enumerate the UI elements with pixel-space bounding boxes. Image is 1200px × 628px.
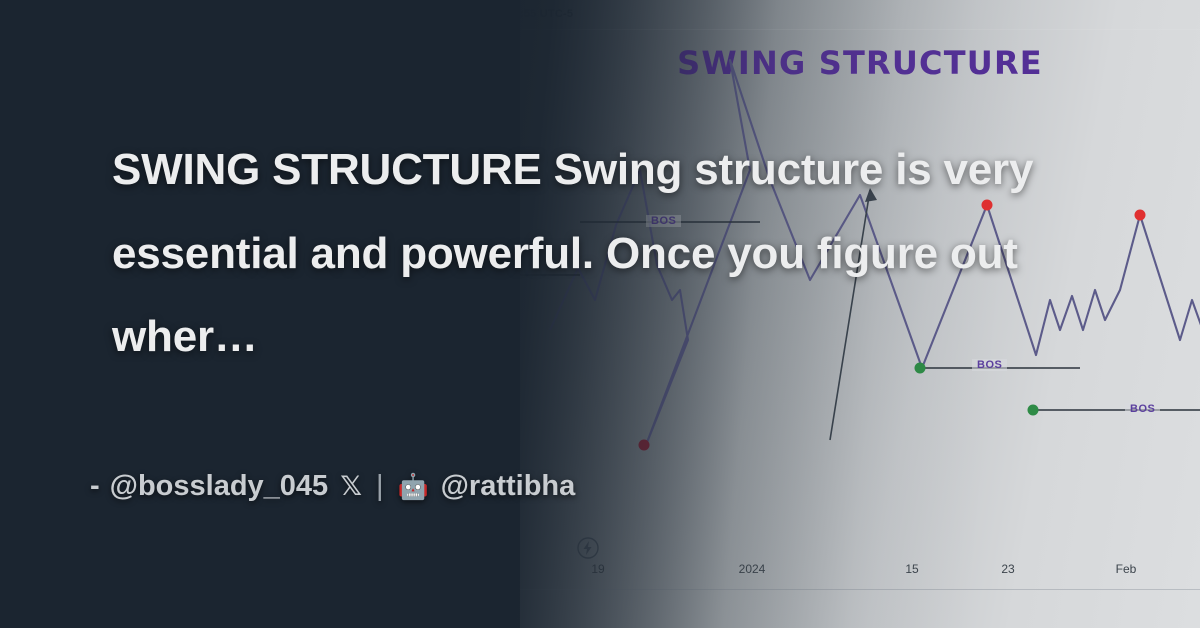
swing-low-marker xyxy=(1028,405,1039,416)
attribution: - @bosslady_045 𝕏 | 🤖 @rattibha xyxy=(90,470,575,503)
source-handle[interactable]: @rattibha xyxy=(441,470,576,503)
swing-high-marker xyxy=(1135,210,1146,221)
attribution-separator: | xyxy=(376,470,384,503)
swing-low-marker xyxy=(639,440,650,451)
author-handle[interactable]: @bosslady_045 xyxy=(110,470,329,503)
bos-label: BOS xyxy=(1125,403,1160,415)
lightning-bolt-icon[interactable] xyxy=(576,536,600,560)
x-axis-tick: Feb xyxy=(1116,562,1137,576)
attribution-dash: - xyxy=(90,470,100,503)
card-content: SWING STRUCTURE Swing structure is very … xyxy=(112,128,1122,379)
x-axis-tick: 23 xyxy=(1001,562,1014,576)
x-axis-tick: 19 xyxy=(591,562,604,576)
page-title: SWING STRUCTURE Swing structure is very … xyxy=(112,128,1112,379)
x-axis-tick: 2024 xyxy=(739,562,766,576)
x-twitter-icon[interactable]: 𝕏 xyxy=(340,471,362,502)
chart-axis-divider xyxy=(520,589,1200,590)
robot-icon: 🤖 xyxy=(398,472,429,502)
share-card: :55 UTC-5 SWING STRUCTURE BOSBOSBOS xyxy=(0,0,1200,628)
chart-x-axis: 1920241523Feb xyxy=(520,562,1200,582)
x-axis-tick: 15 xyxy=(905,562,918,576)
